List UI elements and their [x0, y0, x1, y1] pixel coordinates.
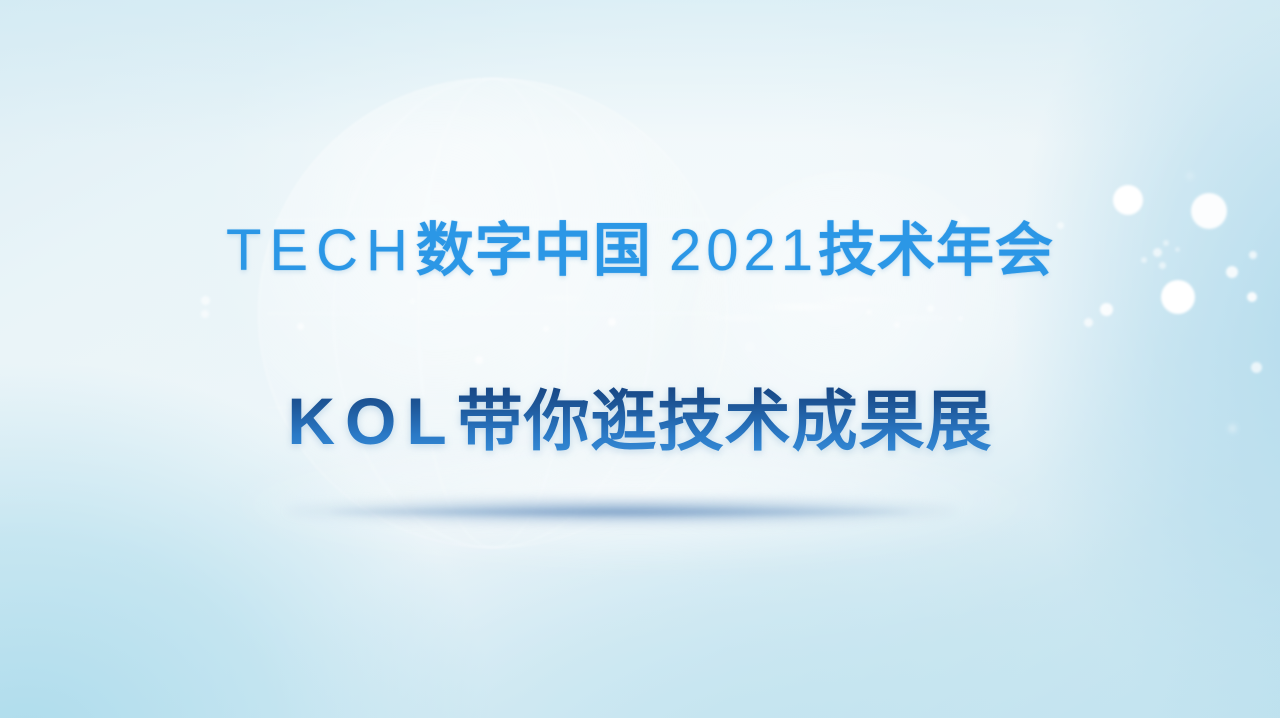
globe-latitude-lower	[267, 407, 718, 408]
bokeh-particle	[1251, 362, 1262, 373]
bokeh-particle	[1191, 193, 1227, 229]
globe-latitude-equator	[267, 313, 718, 314]
light-streak	[704, 316, 780, 320]
bokeh-particle	[1175, 247, 1180, 252]
bokeh-particle	[1229, 425, 1236, 432]
bokeh-particle	[543, 326, 549, 332]
bokeh-particle	[1153, 248, 1162, 257]
bokeh-particle	[1036, 245, 1041, 250]
bokeh-particle	[959, 217, 967, 225]
bokeh-particle	[1141, 257, 1147, 263]
bokeh-particle	[1018, 265, 1024, 271]
bokeh-particle	[894, 322, 900, 328]
bokeh-particle	[475, 356, 483, 364]
bokeh-particle	[410, 299, 415, 304]
light-streak	[528, 296, 592, 300]
bokeh-particle	[1113, 185, 1143, 215]
bokeh-particle	[1163, 240, 1169, 246]
bokeh-particle	[1247, 292, 1257, 302]
bokeh-particle	[1187, 173, 1193, 179]
ground-shadow-core	[330, 508, 910, 516]
bokeh-particle	[201, 296, 210, 305]
bokeh-particle	[927, 305, 934, 312]
bokeh-particle	[1057, 222, 1064, 229]
globe-latitude-upper	[267, 219, 718, 220]
bokeh-particle	[201, 310, 209, 318]
bokeh-particle	[1226, 266, 1238, 278]
title-card-canvas: TECH数字中国 2021技术年会 KOL带你逛技术成果展	[0, 0, 1280, 718]
bokeh-particle	[1100, 303, 1113, 316]
bokeh-particle	[1084, 318, 1093, 327]
bokeh-particle	[747, 344, 753, 350]
bokeh-particle	[958, 316, 963, 321]
bokeh-particle	[608, 318, 616, 326]
bokeh-particle	[1249, 251, 1257, 259]
light-streak	[815, 297, 905, 302]
light-streak	[746, 304, 866, 310]
bokeh-particle	[866, 309, 872, 315]
bokeh-particle	[1161, 280, 1195, 314]
light-streak	[885, 316, 955, 320]
bokeh-particle	[1159, 262, 1166, 269]
bokeh-particle	[297, 323, 304, 330]
